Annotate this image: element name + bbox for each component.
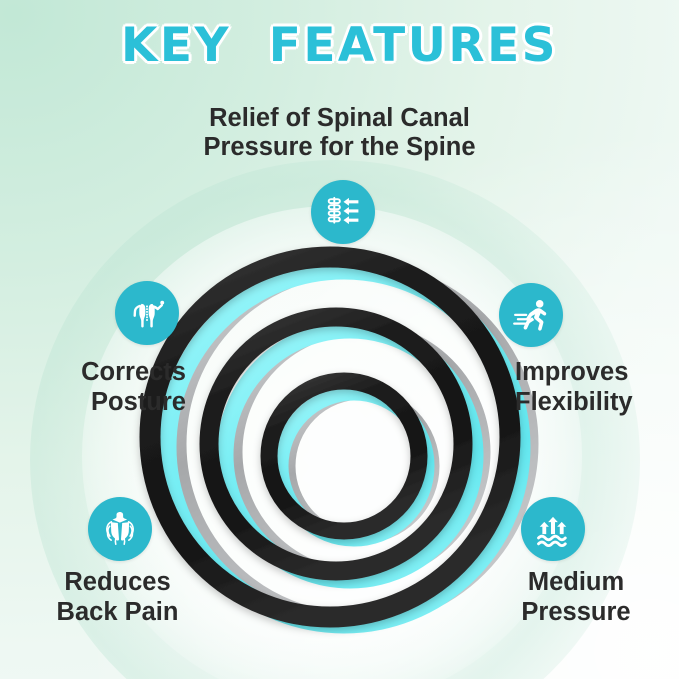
feature-label-reduces-back-pain: Reduces Back Pain [10,568,225,627]
ring-medium-black [209,317,463,571]
back-muscles-icon [88,497,152,561]
ring-small-cyan [281,393,427,539]
ring-small-black [269,381,419,531]
ring-large-black [150,257,510,617]
poster-title: KEY FEATURES [0,18,679,73]
feature-label-corrects-posture: Corrects Posture [6,358,186,417]
poster-headline: Relief of Spinal Canal Pressure for the … [0,104,679,162]
arrows-waves-icon [521,497,585,561]
ring-set-medium [209,317,484,580]
ring-medium-gray [236,328,484,576]
posture-body-icon [115,281,179,345]
feature-label-improves-flexibility: Improves Flexibility [515,358,679,417]
key-features-poster: KEY FEATURES Relief of Spinal Canal Pres… [0,0,679,679]
ring-small-gray [290,394,434,538]
spine-arrows-icon [311,180,375,244]
ring-set-small [269,381,434,539]
ring-medium-cyan [225,330,475,580]
running-person-icon [499,283,563,347]
feature-label-medium-pressure: Medium Pressure [476,568,676,627]
